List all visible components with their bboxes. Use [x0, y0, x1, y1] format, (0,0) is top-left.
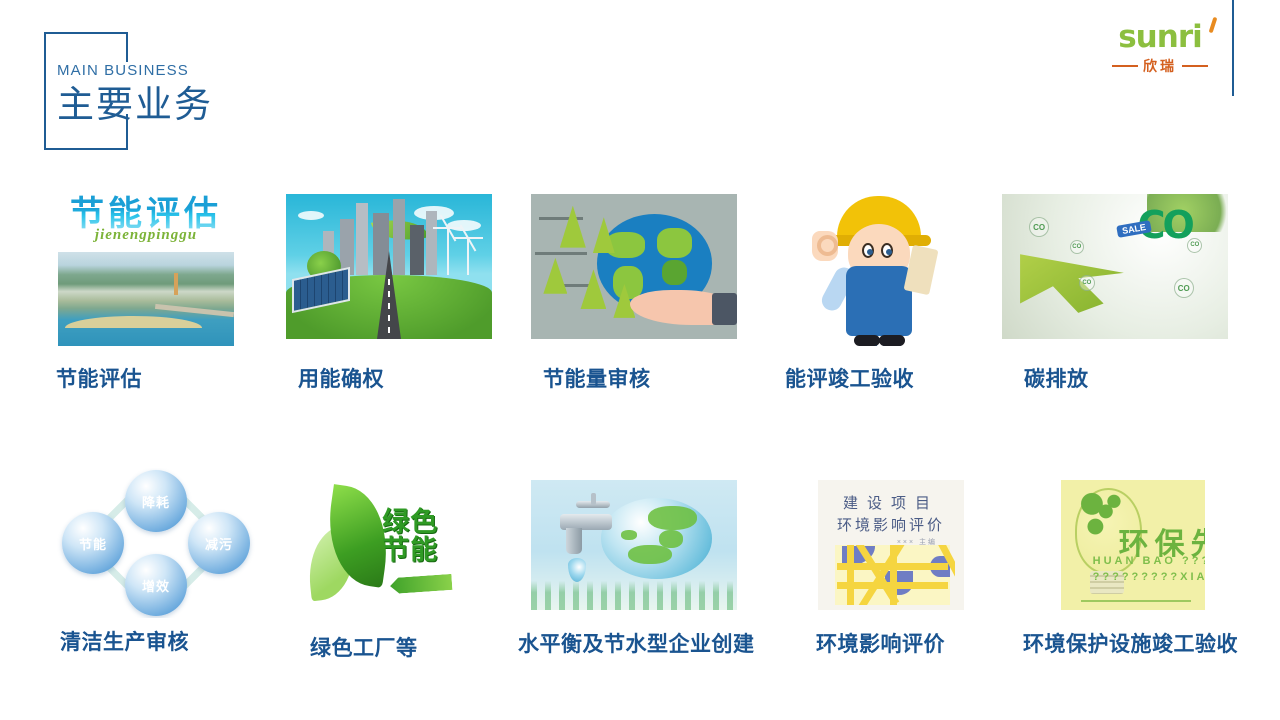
service-caption: 碳排放	[1024, 363, 1089, 393]
logo-chinese-name: 欣瑞	[1143, 56, 1177, 76]
book-title-line1: 建设项目	[843, 492, 939, 513]
sleeve-cuff-shape	[712, 293, 737, 325]
water-drop-shape	[568, 558, 586, 582]
header-divider-line	[1232, 0, 1234, 96]
services-row-2: 降耗 减污 增效 节能 清洁生产审核 绿色 节能	[0, 468, 1280, 698]
co2-bubble: CO	[1070, 240, 1084, 254]
earth-globe-shape	[601, 498, 712, 579]
services-row-1: 节能评估 jienengpinggu 节能评估	[0, 180, 1280, 410]
service-thumbnail-green-factory: 绿色 节能	[296, 474, 492, 614]
faucet-shape	[560, 514, 612, 530]
road-shape	[377, 251, 401, 339]
service-caption: 节能评估	[56, 363, 142, 393]
wind-turbine-icon	[447, 229, 449, 275]
sphere-bottom: 增效	[125, 554, 187, 616]
service-thumbnail-energy-saving-audit	[531, 194, 737, 339]
shoe-shape	[854, 335, 880, 346]
logo-rule-left	[1112, 65, 1138, 67]
co2-bubble: CO	[1079, 275, 1095, 291]
sphere-top: 降耗	[125, 470, 187, 532]
pole-shape	[535, 252, 587, 255]
company-logo: sunri 欣瑞	[1100, 22, 1220, 78]
co2-bubble: CO	[1029, 217, 1049, 237]
service-caption: 清洁生产审核	[60, 626, 189, 656]
service-caption: 环境影响评价	[816, 628, 945, 658]
co2-bubble: CO	[1187, 238, 1202, 253]
service-caption: 绿色工厂等	[310, 632, 418, 662]
ok-gesture-hand	[812, 231, 838, 261]
building-shape	[426, 211, 437, 275]
building-shape	[356, 203, 368, 275]
service-caption: 环境保护设施竣工验收	[1023, 628, 1238, 658]
logo-text: 绿色 节能	[382, 508, 438, 564]
service-caption: 节能量审核	[543, 363, 651, 393]
logo-rule-right	[1182, 65, 1208, 67]
services-grid: 节能评估 jienengpinggu 节能评估	[0, 180, 1280, 720]
cover-yellow-bar	[847, 545, 854, 605]
wind-turbine-icon	[467, 239, 469, 275]
page-header: MAIN BUSINESS 主要业务 sunri 欣瑞	[0, 0, 1280, 180]
tower-shape	[174, 273, 178, 295]
tree-shape	[543, 258, 567, 294]
eye-shape	[881, 243, 893, 258]
logo-subtitle: 欣瑞	[1100, 56, 1220, 76]
service-caption: 用能确权	[298, 363, 384, 393]
service-caption: 水平衡及节水型企业创建	[518, 628, 755, 658]
logo-wordmark: sunri	[1100, 22, 1220, 53]
service-thumbnail-water-balance	[531, 480, 737, 610]
arrow-shape	[390, 573, 453, 593]
eye-shape	[862, 243, 874, 258]
service-thumbnail-energy-rights	[286, 194, 492, 339]
logo-text-line2: 节能	[382, 536, 438, 564]
book-cover-art	[830, 545, 956, 605]
service-thumbnail-env-facility-acceptance: 环保先 HUAN BAO ??? ?????????XIAN	[1061, 480, 1205, 610]
poster-rule	[1081, 600, 1190, 602]
poster-pinyin-line2: ?????????XIAN	[1093, 571, 1205, 583]
service-caption: 能评竣工验收	[785, 363, 914, 393]
tree-shape	[560, 206, 586, 248]
service-thumbnail-carbon-emission: CO SALE CO CO CO CO CO	[1002, 194, 1228, 339]
sandbar-shape	[65, 316, 202, 328]
bridge-shape	[155, 304, 234, 317]
service-thumbnail-clean-production-audit: 降耗 减污 增效 节能	[48, 468, 264, 618]
page-title-english: MAIN BUSINESS	[57, 62, 189, 79]
landscape-photo	[58, 252, 234, 346]
service-thumbnail-eia: 建设项目 环境影响评价 ××× 主编	[818, 480, 964, 610]
book-title-line2: 环境影响评价	[837, 514, 945, 535]
service-thumbnail-completion-acceptance	[781, 186, 977, 346]
co2-bubble: CO	[1174, 278, 1194, 298]
shoe-shape	[879, 335, 905, 346]
logo-text-line1: 绿色	[382, 508, 438, 536]
poster-pinyin-line1: HUAN BAO ???	[1093, 555, 1205, 567]
poster-pinyin: jienengpinggu	[95, 227, 197, 244]
service-thumbnail-energy-assessment: 节能评估 jienengpinggu	[48, 180, 244, 352]
sphere-right: 减污	[188, 512, 250, 574]
sphere-left: 节能	[62, 512, 124, 574]
building-shape	[410, 225, 424, 275]
page-title-chinese: 主要业务	[57, 82, 213, 128]
city-skyline-silhouette	[531, 581, 737, 610]
cloud-shape	[298, 211, 324, 220]
torso-shape	[846, 266, 912, 336]
faucet-handle	[576, 501, 610, 508]
